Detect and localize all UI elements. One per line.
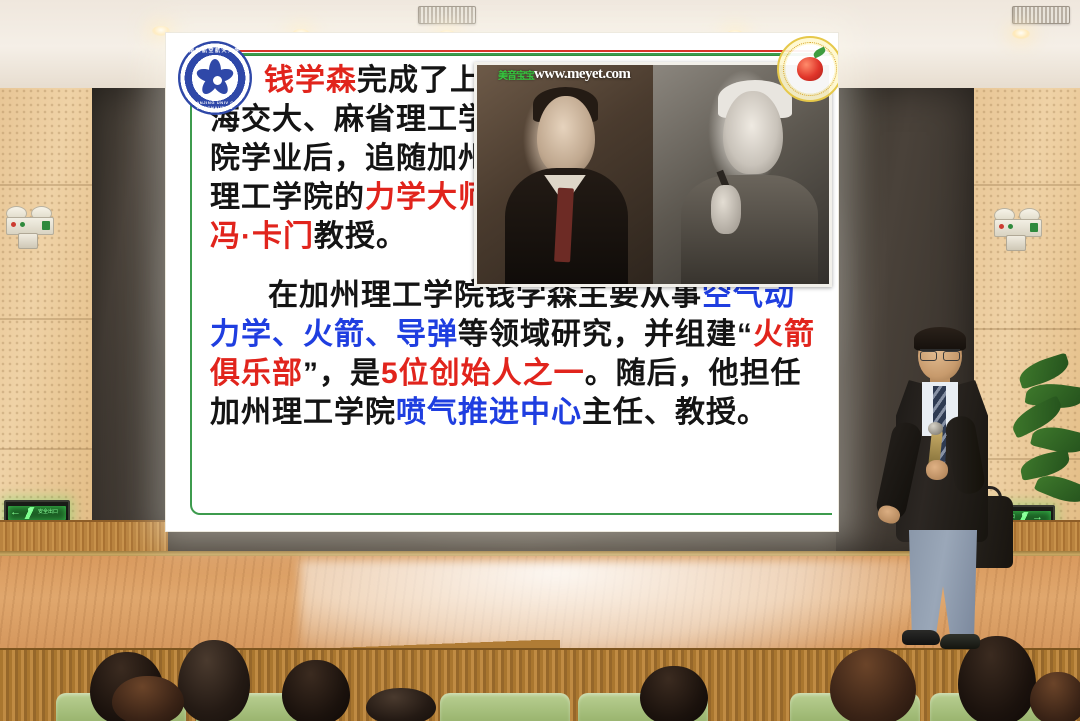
slide-paragraph-1: 钱学森完成了上海交大、麻省理工学院学业后，追随加州理工学院的力学大师冯·卡门教授… — [210, 51, 510, 256]
p1-seg-3: 教授。 — [314, 220, 407, 253]
audience-head — [178, 640, 250, 721]
projection-screen: 南京航空航天大学 NANJING UNIV OF AERONAUTICS — [166, 33, 838, 531]
audience-head — [366, 688, 436, 721]
emergency-light-left — [6, 206, 52, 240]
wall-panel-dark-left — [92, 88, 168, 558]
watermark: 美音宝宝 www.meyet.com — [498, 66, 630, 83]
presenter — [888, 330, 1008, 656]
ceiling-vent — [1012, 6, 1070, 24]
p2-seg-7: 喷气推进中心 — [396, 396, 582, 429]
exit-label: 安全出口 — [38, 510, 58, 515]
arrow-left-icon: ← — [10, 507, 21, 518]
lecture-hall-scene: ← 安全出口 安全出口 → 南京航空航天大 — [0, 0, 1080, 721]
historical-portrait-pair — [474, 62, 832, 287]
audience-chair — [440, 693, 570, 721]
p2-seg-8: 主任、教授。 — [582, 396, 768, 429]
audience-head — [112, 676, 184, 721]
university-seal-icon: 南京航空航天大学 NANJING UNIV OF AERONAUTICS — [178, 41, 252, 115]
portrait-qian-xuesen — [477, 65, 653, 284]
slide-paragraph-2: 在加州理工学院钱学森主要从事空气动力学、火箭、导弹等领域研究，并组建“火箭俱乐部… — [210, 276, 822, 432]
glasses-icon — [920, 349, 960, 359]
emergency-light-right — [994, 208, 1040, 242]
running-man-icon — [23, 507, 36, 519]
presentation-slide: 南京航空航天大学 NANJING UNIV OF AERONAUTICS — [166, 33, 838, 531]
audience-head — [1030, 672, 1080, 721]
p2-seg-5: 5位创始人之一 — [381, 357, 585, 390]
seal-bottom-text: NANJING UNIV OF AERONAUTICS — [178, 100, 252, 110]
p2-seg-2: 等领域研究，并组建“ — [458, 318, 753, 351]
p1-seg-0: 钱学森 — [264, 64, 357, 97]
ceiling-vent — [418, 6, 476, 24]
wall-left — [0, 88, 92, 558]
seal-top-text: 南京航空航天大学 — [178, 47, 252, 54]
downlight-icon — [1012, 29, 1030, 39]
p2-seg-4: ”，是 — [303, 357, 381, 390]
apple-logo-icon — [777, 36, 838, 102]
audience-head — [830, 648, 916, 721]
audience-head — [640, 666, 708, 721]
audience-head — [282, 660, 350, 721]
watermark-cn-text: 美音宝宝 — [498, 67, 534, 82]
watermark-url: www.meyet.com — [534, 66, 630, 83]
